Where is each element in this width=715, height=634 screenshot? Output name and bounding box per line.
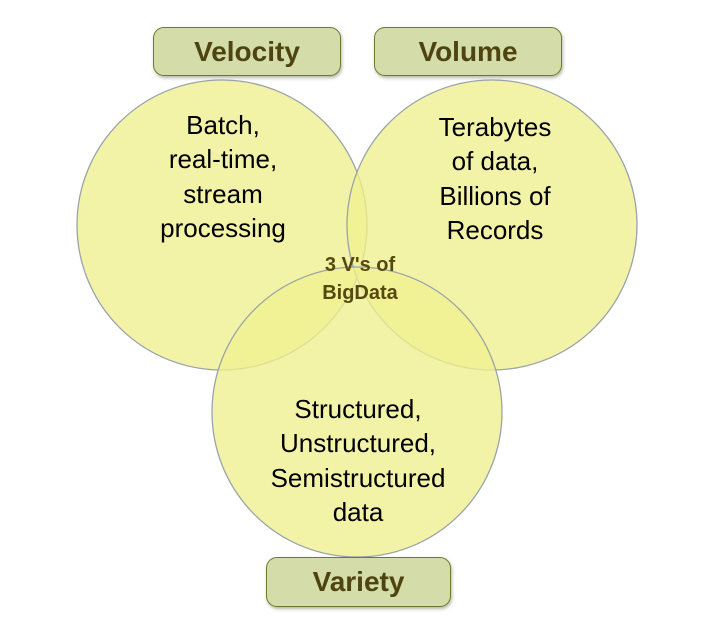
label-velocity[interactable]: Velocity [153, 27, 341, 76]
venn-diagram: Batch, real-time, stream processing Tera… [0, 0, 715, 634]
label-variety[interactable]: Variety [266, 557, 451, 607]
venn-circles-group [0, 0, 715, 634]
label-volume[interactable]: Volume [374, 27, 562, 76]
circle-variety[interactable] [212, 267, 502, 557]
